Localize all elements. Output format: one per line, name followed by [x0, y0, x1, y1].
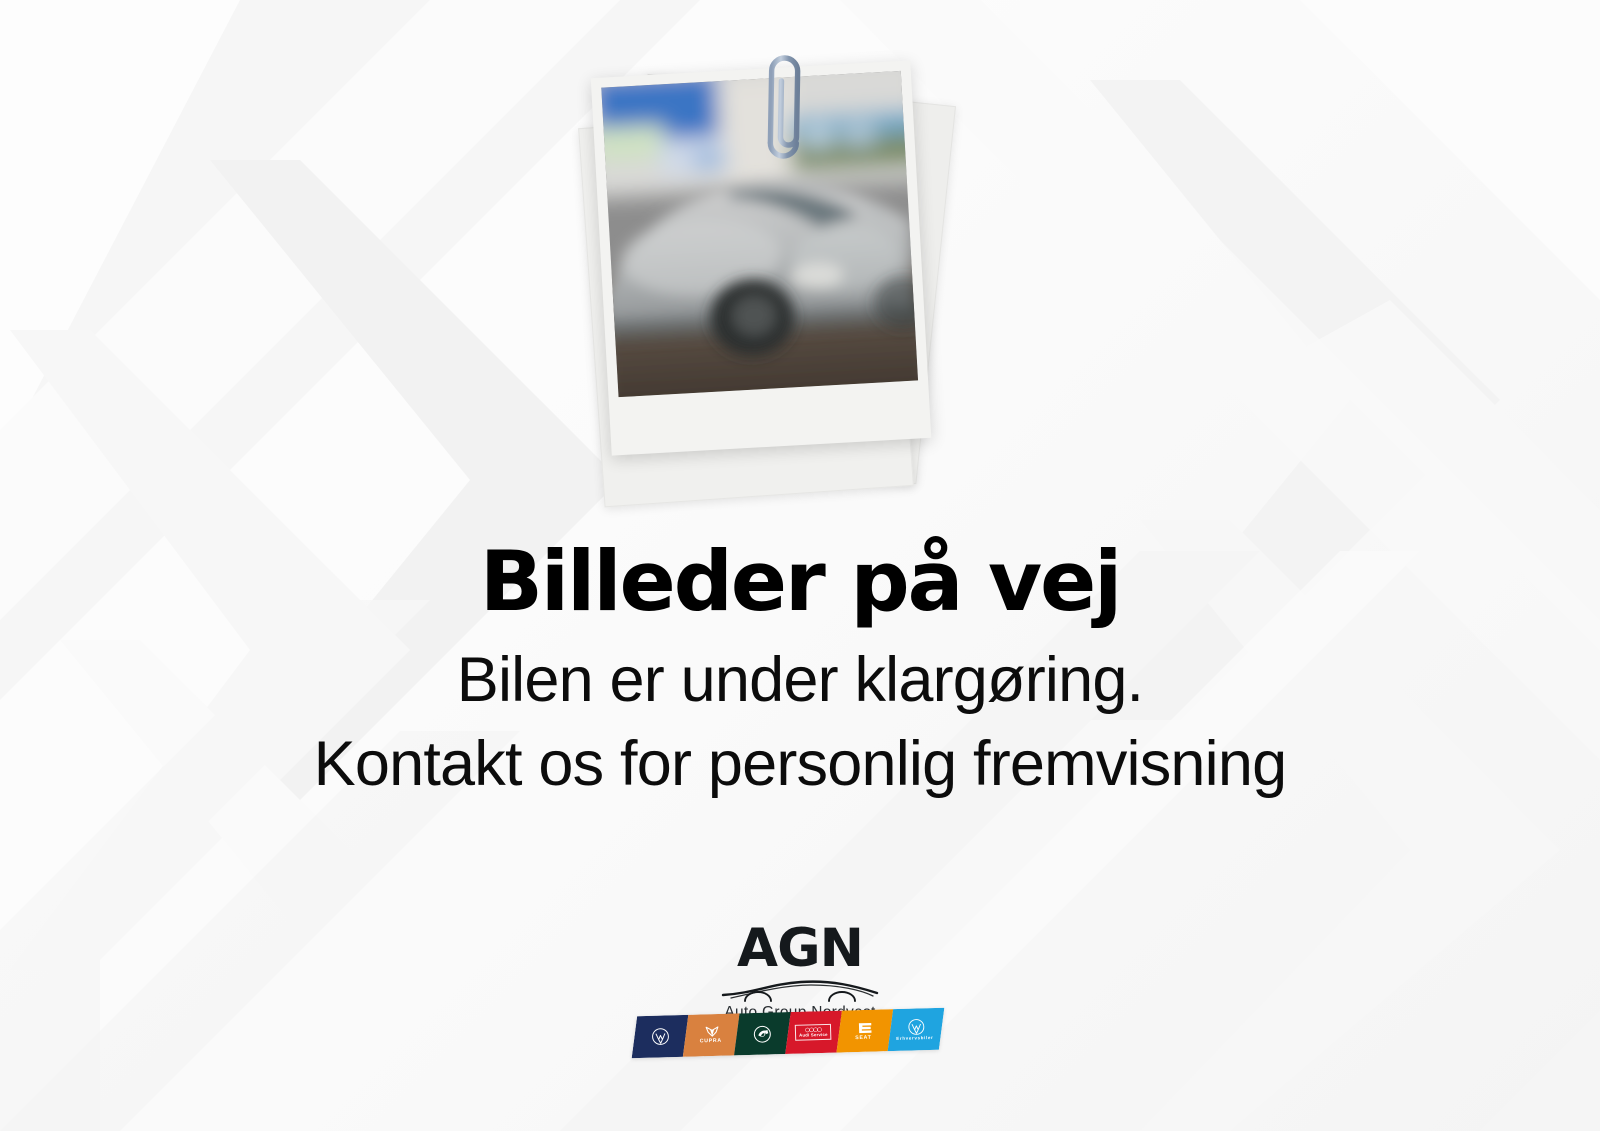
- placeholder-image-canvas: Billeder på vej Bilen er under klargørin…: [0, 0, 1600, 1131]
- brand-badge-cupra: CUPRA: [683, 1013, 740, 1056]
- brand-badge-volkswagen-erhvervsbiler: Erhvervsbiler: [888, 1008, 945, 1051]
- brand-logo: AGN Auto Group Nordvest: [0, 922, 1600, 1022]
- seat-logo-icon: [857, 1021, 872, 1035]
- brand-label-cupra: CUPRA: [699, 1039, 721, 1045]
- brand-badge-skoda: [734, 1012, 791, 1055]
- brand-label-audi-service: Audi Service: [799, 1033, 828, 1038]
- brand-badge-audi-service: Audi Service: [785, 1011, 842, 1054]
- brand-badge-seat: SEAT: [836, 1009, 893, 1052]
- message-block: Billeder på vej Bilen er under klargørin…: [0, 540, 1600, 807]
- brand-label-erhvervsbiler: Erhvervsbiler: [896, 1036, 933, 1041]
- car-silhouette-icon: [715, 976, 885, 1002]
- skoda-logo-icon: [753, 1024, 773, 1043]
- subtitle-line-1: Bilen er under klargøring.: [0, 639, 1600, 723]
- subtitle-line-2: Kontakt os for personlig fremvisning: [0, 723, 1600, 807]
- brand-badge-volkswagen: [632, 1015, 689, 1058]
- brand-badge-strip: CUPRA Audi Service: [632, 1008, 945, 1059]
- page-title: Billeder på vej: [0, 540, 1600, 623]
- volkswagen-logo-icon: [651, 1027, 670, 1045]
- brand-label-seat: SEAT: [856, 1036, 872, 1042]
- polaroid-photo-stack: [573, 55, 1003, 525]
- paperclip-icon: [757, 45, 811, 171]
- cupra-logo-icon: [703, 1025, 719, 1038]
- logo-wordmark: AGN: [0, 922, 1600, 975]
- volkswagen-logo-icon: [908, 1018, 926, 1035]
